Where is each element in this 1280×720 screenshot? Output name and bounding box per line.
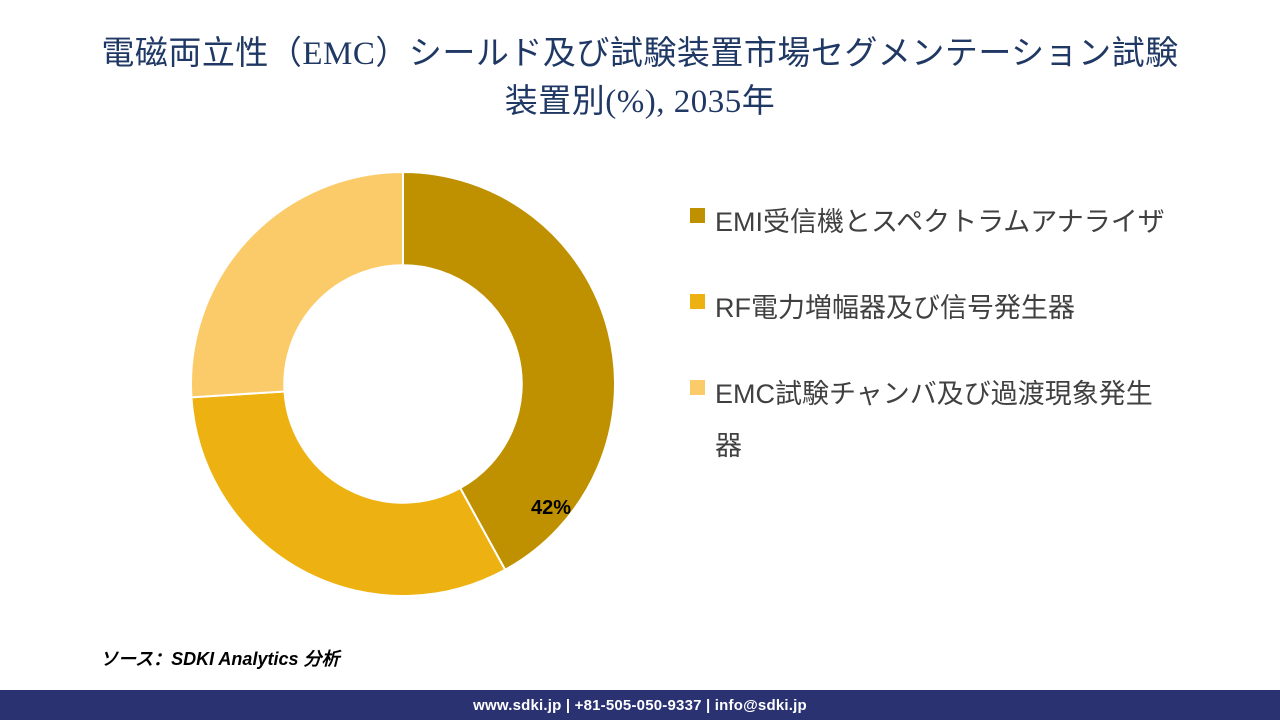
legend-swatch-icon <box>690 294 705 309</box>
legend-item-label: EMI受信機とスペクトラムアナライザ <box>715 196 1165 248</box>
legend-swatch-icon <box>690 380 705 395</box>
footer-contact-text: www.sdki.jp | +81-505-050-9337 | info@sd… <box>473 697 807 714</box>
footer-bar: www.sdki.jp | +81-505-050-9337 | info@sd… <box>0 690 1280 720</box>
donut-slice-group <box>191 172 615 596</box>
slice-value-label: 42% <box>531 497 571 520</box>
donut-chart-svg <box>191 172 615 596</box>
chart-legend: EMI受信機とスペクトラムアナライザ RF電力増幅器及び信号発生器 EMC試験チ… <box>690 196 1210 506</box>
chart-title: 電磁両立性（EMC）シールド及び試験装置市場セグメンテーション試験 装置別(%)… <box>40 30 1240 126</box>
source-note: ソース：SDKI Analytics 分析 <box>100 645 339 671</box>
legend-item-rf-amplifiers[interactable]: RF電力増幅器及び信号発生器 <box>690 282 1210 334</box>
legend-item-label: RF電力増幅器及び信号発生器 <box>715 282 1075 334</box>
legend-item-emi-receivers[interactable]: EMI受信機とスペクトラムアナライザ <box>690 196 1210 248</box>
legend-item-emc-chambers[interactable]: EMC試験チャンバ及び過渡現象発生器 <box>690 368 1210 472</box>
legend-swatch-icon <box>690 208 705 223</box>
donut-slice[interactable] <box>191 172 403 397</box>
donut-slice[interactable] <box>191 391 505 596</box>
donut-chart: 42% <box>191 172 615 596</box>
legend-item-label: EMC試験チャンバ及び過渡現象発生器 <box>715 368 1175 472</box>
